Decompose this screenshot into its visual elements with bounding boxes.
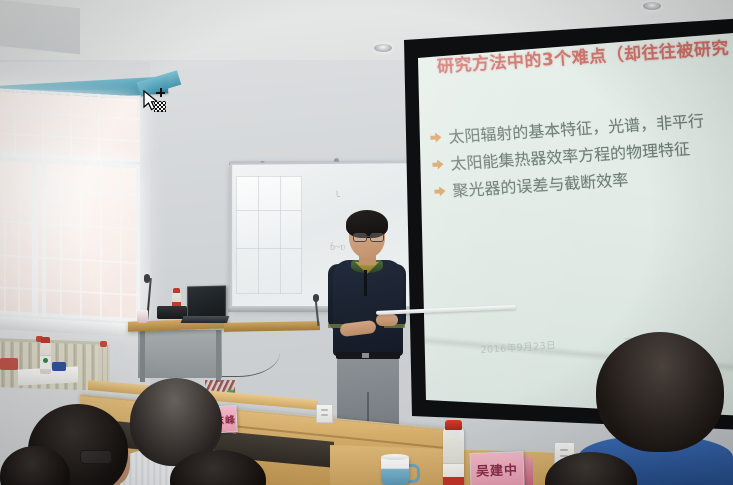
mug [381,456,409,485]
bottle-label-band [443,477,464,485]
bottle-logo-icon [43,358,48,363]
glasses-bridge-icon [366,236,371,237]
presenter-belt-buckle [362,353,369,358]
slide-date: 2016年9月23日 [480,337,557,356]
whiteboard-reflection [236,176,302,294]
bullet-arrow-icon [434,186,446,196]
bottle-cap [445,420,462,430]
podium-body [138,330,222,378]
window-main-pane [0,156,140,322]
presenter-shirt [333,260,403,356]
radiator-valve [100,341,107,347]
window [0,88,140,341]
name-card: 吴建中 [469,451,524,485]
mouse-cursor [143,88,169,114]
mug-rim [381,454,409,460]
name-card-text: 吴建中 [476,459,519,479]
slide-bullet-list: 太阳辐射的基本特征，光谱，非平行 太阳能集热器效率方程的物理特征 聚光器的误差与… [429,103,733,206]
glasses-icon [353,233,367,242]
slide-title: 研究方法中的3个难点（却往往被研究 [436,31,733,77]
blue-object [52,362,66,371]
bottle-neck [447,429,460,436]
bullet-arrow-icon [430,132,442,142]
glasses-icon [80,450,112,464]
presenter-right-arm [376,314,398,326]
audience-head [596,332,724,452]
crosshair-plus-icon [156,88,165,97]
bottle-cap [41,337,50,343]
downlight-icon [374,44,392,52]
presenter-placket [364,270,367,296]
cursor-checker-icon [154,101,166,112]
bottle-cap [173,288,180,293]
radiator-section-right [98,345,110,385]
cup-on-podium [137,310,148,323]
microphone-head-icon [313,294,319,302]
screenshot-root: ╰ ɓ~ʋ 研究方法中的3个难点（却往往被研究 太阳辐射的基本特征，光谱，非平行… [0,0,733,485]
glasses-icon [370,233,384,242]
podium-desktop-extension [224,321,320,332]
microphone-head-icon [144,274,150,283]
downlight-icon [643,2,661,10]
red-object [0,358,18,370]
wall-outlet[interactable] [316,404,333,423]
bullet-arrow-icon [432,159,444,169]
whiteboard-marks: ╰ [334,192,340,203]
presenter [320,206,416,454]
laptop-keyboard-base[interactable] [181,316,230,323]
